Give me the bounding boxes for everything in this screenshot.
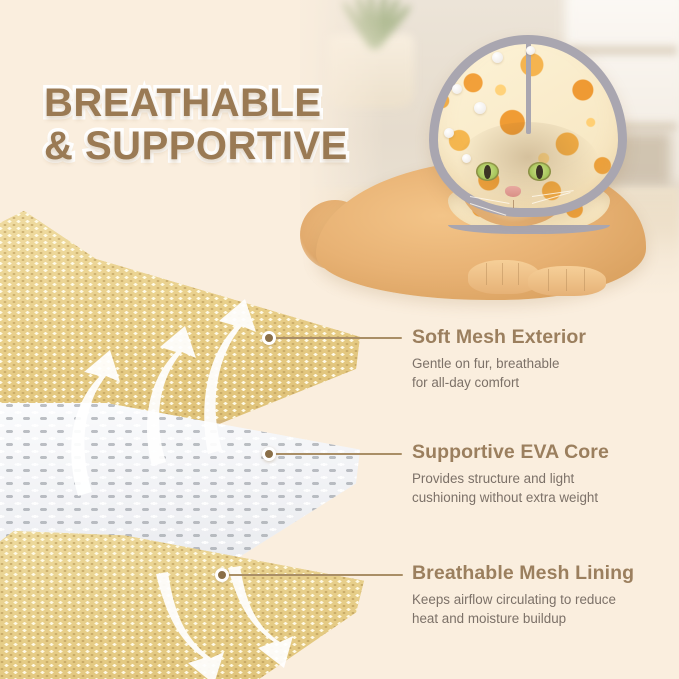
cat-paw-right — [528, 266, 606, 296]
callout-supportive-eva-core: Supportive EVA Core Provides structure a… — [412, 441, 674, 507]
top-mesh-layer — [0, 204, 360, 433]
cone-rim-trim — [429, 35, 627, 217]
connector-line — [222, 574, 403, 576]
recovery-cone-collar — [430, 36, 626, 216]
callout-soft-mesh-exterior: Soft Mesh Exterior Gentle on fur, breath… — [412, 326, 674, 392]
feature-description: Provides structure and light cushioning … — [412, 469, 674, 507]
connector-soft-mesh-exterior — [262, 331, 402, 345]
connector-line — [269, 453, 402, 455]
infographic-canvas: BREATHABLE & SUPPORTIVE Soft Mesh Exteri… — [0, 0, 679, 679]
feature-title: Breathable Mesh Lining — [412, 562, 678, 585]
connector-line — [269, 337, 402, 339]
cat-eye-left — [476, 162, 499, 181]
feature-description: Keeps airflow circulating to reduce heat… — [412, 590, 678, 628]
page-title: BREATHABLE & SUPPORTIVE — [44, 82, 348, 168]
cat-mouth — [513, 200, 514, 208]
connector-dot — [215, 568, 229, 582]
cat-eye-right — [528, 162, 551, 181]
connector-dot — [262, 331, 276, 345]
layer-diagram — [0, 196, 390, 679]
feature-description: Gentle on fur, breathable for all-day co… — [412, 354, 674, 392]
feature-title: Supportive EVA Core — [412, 441, 674, 464]
feature-title: Soft Mesh Exterior — [412, 326, 674, 349]
callout-breathable-mesh-lining: Breathable Mesh Lining Keeps airflow cir… — [412, 562, 678, 628]
connector-dot — [262, 447, 276, 461]
connector-breathable-mesh-lining — [215, 568, 403, 582]
connector-supportive-eva-core — [262, 447, 402, 461]
cat-nose — [505, 186, 521, 197]
